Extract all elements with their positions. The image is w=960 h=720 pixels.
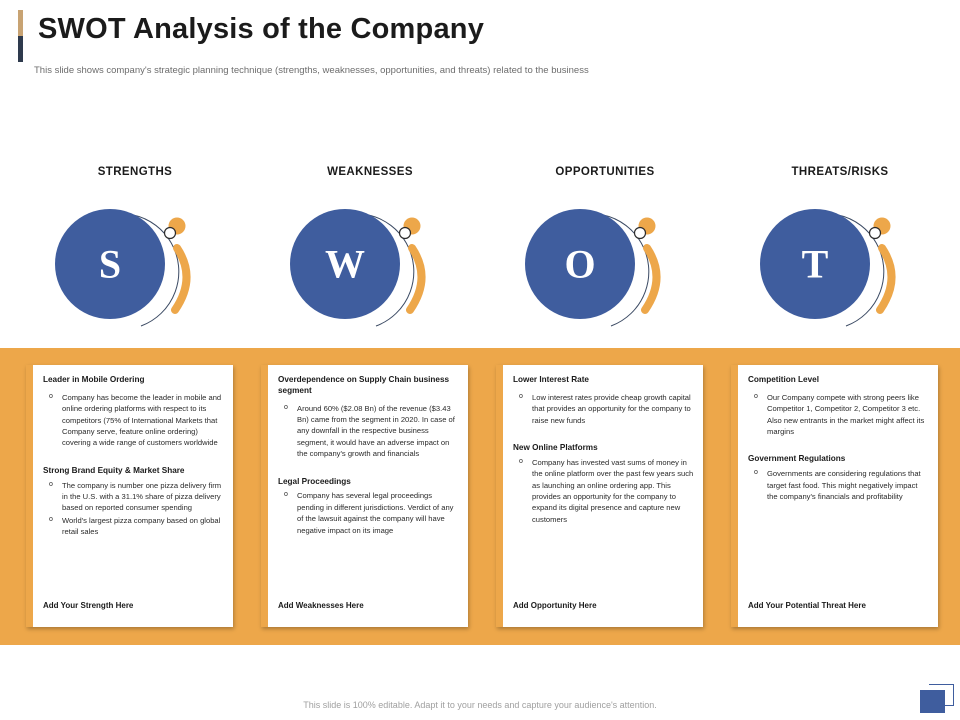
bullet-list: Company has become the leader in mobile … (43, 392, 224, 449)
logo-outline-icon (929, 684, 954, 706)
bullet-item: Around 60% ($2.08 Bn) of the revenue ($3… (278, 403, 459, 460)
panel-cta-s[interactable]: Add Your Strength Here (43, 601, 133, 610)
bullet-item: World's largest pizza company based on g… (43, 515, 224, 538)
bullet-list: The company is number one pizza delivery… (43, 480, 224, 538)
bullet-list: Company has invested vast sums of money … (513, 457, 694, 525)
block-title: Government Regulations (748, 454, 929, 465)
svg-text:O: O (564, 242, 595, 287)
block-title: New Online Platforms (513, 443, 694, 454)
swot-panel-w[interactable]: Overdependence on Supply Chain business … (261, 365, 468, 627)
bullet-item: Governments are considering regulations … (748, 468, 929, 502)
circle-graphic-icon: T (730, 200, 950, 340)
swot-panel-t[interactable]: Competition LevelOur Company compete wit… (731, 365, 938, 627)
svg-text:T: T (802, 242, 829, 287)
bullet-list: Around 60% ($2.08 Bn) of the revenue ($3… (278, 403, 459, 460)
title-accent-bar-upper (18, 10, 23, 36)
panel-content: Lower Interest RateLow interest rates pr… (503, 365, 703, 627)
block-title: Strong Brand Equity & Market Share (43, 466, 224, 477)
page-title: SWOT Analysis of the Company (38, 13, 484, 46)
panel-cta-o[interactable]: Add Opportunity Here (513, 601, 597, 610)
bullet-item: Company has several legal proceedings pe… (278, 490, 459, 536)
swot-circle-s: S (25, 200, 245, 340)
block-title: Leader in Mobile Ordering (43, 375, 224, 386)
block-title: Lower Interest Rate (513, 375, 694, 386)
bullet-item: Low interest rates provide cheap growth … (513, 392, 694, 426)
block-spacer (513, 427, 694, 443)
swot-panel-o[interactable]: Lower Interest RateLow interest rates pr… (496, 365, 703, 627)
block-spacer (748, 438, 929, 454)
block-spacer (278, 461, 459, 477)
column-heading-s: STRENGTHS (25, 166, 245, 178)
bullet-item: Our Company compete with strong peers li… (748, 392, 929, 438)
column-heading-o: OPPORTUNITIES (495, 166, 715, 178)
swot-circle-o: O (495, 200, 715, 340)
bullet-item: Company has become the leader in mobile … (43, 392, 224, 449)
circle-graphic-icon: O (495, 200, 715, 340)
bullet-item: Company has invested vast sums of money … (513, 457, 694, 525)
bullet-list: Company has several legal proceedings pe… (278, 490, 459, 536)
svg-text:W: W (325, 242, 365, 287)
block-title: Overdependence on Supply Chain business … (278, 375, 459, 397)
panel-content: Competition LevelOur Company compete wit… (738, 365, 938, 627)
bullet-list: Low interest rates provide cheap growth … (513, 392, 694, 426)
block-spacer (43, 450, 224, 466)
column-heading-w: WEAKNESSES (260, 166, 480, 178)
circle-graphic-icon: W (260, 200, 480, 340)
panel-cta-w[interactable]: Add Weaknesses Here (278, 601, 364, 610)
svg-text:S: S (99, 242, 121, 287)
bullet-list: Governments are considering regulations … (748, 468, 929, 502)
column-heading-t: THREATS/RISKS (730, 166, 950, 178)
footer-note: This slide is 100% editable. Adapt it to… (0, 700, 960, 710)
circle-graphic-icon: S (25, 200, 245, 340)
swot-circle-w: W (260, 200, 480, 340)
swot-panel-s[interactable]: Leader in Mobile OrderingCompany has bec… (26, 365, 233, 627)
panel-cta-t[interactable]: Add Your Potential Threat Here (748, 601, 866, 610)
block-title: Competition Level (748, 375, 929, 386)
block-title: Legal Proceedings (278, 477, 459, 488)
panel-content: Overdependence on Supply Chain business … (268, 365, 468, 627)
swot-circle-t: T (730, 200, 950, 340)
panel-content: Leader in Mobile OrderingCompany has bec… (33, 365, 233, 627)
bullet-list: Our Company compete with strong peers li… (748, 392, 929, 438)
page-subtitle: This slide shows company's strategic pla… (34, 65, 589, 76)
bullet-item: The company is number one pizza delivery… (43, 480, 224, 514)
